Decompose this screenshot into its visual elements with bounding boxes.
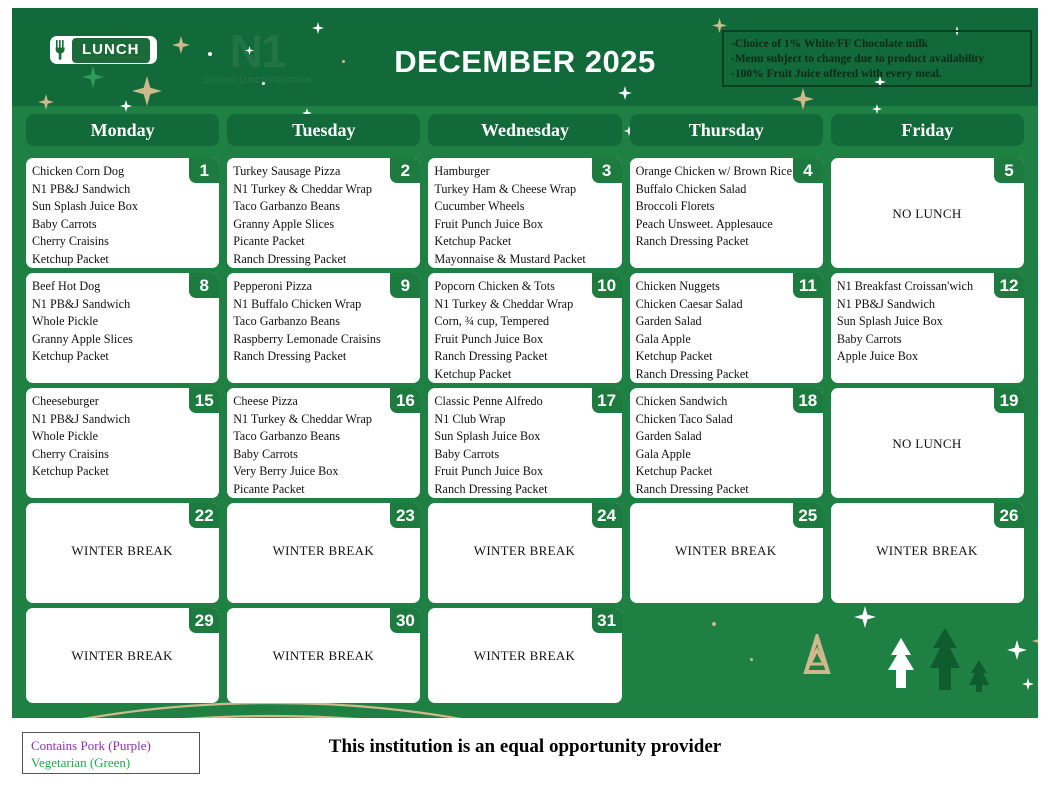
menu-item: Baby Carrots xyxy=(32,216,212,234)
menu-item-list: Classic Penne Alfredo N1 Club Wrap Sun S… xyxy=(434,393,614,498)
winter-break-note: WINTER BREAK xyxy=(233,613,413,699)
menu-item: Cherry Craisins xyxy=(32,446,212,464)
winter-break-note: WINTER BREAK xyxy=(837,508,1017,599)
day-number-badge: 19 xyxy=(994,388,1024,413)
menu-item: Broccoli Florets xyxy=(636,198,816,216)
menu-item: Ketchup Packet xyxy=(32,348,212,366)
poster-header: LUNCH N1 SCHOOL LUNCH PROGRAM DECEMBER 2… xyxy=(12,8,1038,106)
notice-line-3: -100% Fruit Juice offered with every mea… xyxy=(731,67,1023,82)
menu-item: Apple Juice Box xyxy=(837,348,1017,366)
equal-opportunity-statement: This institution is an equal opportunity… xyxy=(0,736,1050,758)
day-number-badge: 29 xyxy=(189,608,219,633)
day-number-badge: 22 xyxy=(189,503,219,528)
calendar-page: LUNCH N1 SCHOOL LUNCH PROGRAM DECEMBER 2… xyxy=(0,0,1050,808)
day-number-badge: 30 xyxy=(390,608,420,633)
calendar-week-row: 8 Beef Hot Dog N1 PB&J Sandwich Whole Pi… xyxy=(22,273,1028,383)
calendar-cell-24[interactable]: 24 WINTER BREAK xyxy=(428,503,621,603)
menu-item: N1 Club Wrap xyxy=(434,411,614,429)
day-number-badge: 23 xyxy=(390,503,420,528)
menu-item: Ranch Dressing Packet xyxy=(233,348,413,366)
menu-item: Ranch Dressing Packet xyxy=(434,481,614,498)
menu-item-list: Beef Hot Dog N1 PB&J Sandwich Whole Pick… xyxy=(32,278,212,366)
menu-item-list: Pepperoni Pizza N1 Buffalo Chicken Wrap … xyxy=(233,278,413,366)
day-number-badge: 3 xyxy=(592,158,622,183)
weekday-header-friday: Friday xyxy=(831,114,1024,146)
day-number-badge: 2 xyxy=(390,158,420,183)
weekday-header-thursday: Thursday xyxy=(630,114,823,146)
menu-item: Ketchup Packet xyxy=(32,251,212,268)
menu-item: Corn, ¾ cup, Tempered xyxy=(434,313,614,331)
day-number-badge: 17 xyxy=(592,388,622,413)
menu-item: Mayonnaise & Mustard Packet xyxy=(434,251,614,268)
menu-item: Cheese Pizza xyxy=(233,393,413,411)
menu-item: Peach Unsweet. Applesauce xyxy=(636,216,816,234)
menu-item: N1 Turkey & Cheddar Wrap xyxy=(233,181,413,199)
menu-item: Picante Packet xyxy=(233,233,413,251)
day-number-badge: 11 xyxy=(793,273,823,298)
menu-item: Chicken Corn Dog xyxy=(32,163,212,181)
no-lunch-note: NO LUNCH xyxy=(837,393,1017,494)
menu-item: Ketchup Packet xyxy=(636,463,816,481)
menu-item: Hamburger xyxy=(434,163,614,181)
menu-item: Chicken Sandwich xyxy=(636,393,816,411)
menu-item-list: Chicken Nuggets Chicken Caesar Salad Gar… xyxy=(636,278,816,383)
menu-item: Ketchup Packet xyxy=(434,233,614,251)
menu-item: Baby Carrots xyxy=(233,446,413,464)
calendar-cell-15[interactable]: 15 Cheeseburger N1 PB&J Sandwich Whole P… xyxy=(26,388,219,498)
calendar-cell-3[interactable]: 3 Hamburger Turkey Ham & Cheese Wrap Cuc… xyxy=(428,158,621,268)
menu-item: Raspberry Lemonade Craisins xyxy=(233,331,413,349)
winter-break-note: WINTER BREAK xyxy=(233,508,413,599)
winter-break-note: WINTER BREAK xyxy=(636,508,816,599)
menu-item: N1 Turkey & Cheddar Wrap xyxy=(434,296,614,314)
calendar-grid: 1 Chicken Corn Dog N1 PB&J Sandwich Sun … xyxy=(12,158,1038,708)
menu-item: Baby Carrots xyxy=(434,446,614,464)
menu-item: Fruit Punch Juice Box xyxy=(434,216,614,234)
menu-item: N1 PB&J Sandwich xyxy=(32,181,212,199)
day-number-badge: 15 xyxy=(189,388,219,413)
weekday-header-tuesday: Tuesday xyxy=(227,114,420,146)
calendar-cell-2[interactable]: 2 Turkey Sausage Pizza N1 Turkey & Chedd… xyxy=(227,158,420,268)
menu-item: N1 PB&J Sandwich xyxy=(837,296,1017,314)
menu-item: Whole Pickle xyxy=(32,428,212,446)
menu-item: Garden Salad xyxy=(636,428,816,446)
menu-poster: LUNCH N1 SCHOOL LUNCH PROGRAM DECEMBER 2… xyxy=(12,8,1038,718)
menu-item: Orange Chicken w/ Brown Rice xyxy=(636,163,816,181)
day-number-badge: 8 xyxy=(189,273,219,298)
weekday-header-wednesday: Wednesday xyxy=(428,114,621,146)
calendar-cell-26[interactable]: 26 WINTER BREAK xyxy=(831,503,1024,603)
calendar-cell-17[interactable]: 17 Classic Penne Alfredo N1 Club Wrap Su… xyxy=(428,388,621,498)
menu-item: Ranch Dressing Packet xyxy=(233,251,413,268)
menu-item-list: Turkey Sausage Pizza N1 Turkey & Cheddar… xyxy=(233,163,413,268)
menu-item: Ketchup Packet xyxy=(434,366,614,383)
weekday-header-monday: Monday xyxy=(26,114,219,146)
day-number-badge: 10 xyxy=(592,273,622,298)
menu-item: Cucumber Wheels xyxy=(434,198,614,216)
calendar-cell-16[interactable]: 16 Cheese Pizza N1 Turkey & Cheddar Wrap… xyxy=(227,388,420,498)
winter-break-note: WINTER BREAK xyxy=(434,613,614,699)
menu-item: N1 PB&J Sandwich xyxy=(32,296,212,314)
calendar-week-row: 15 Cheeseburger N1 PB&J Sandwich Whole P… xyxy=(22,388,1028,498)
menu-notice-box: -Choice of 1% White/FF Chocolate milk -M… xyxy=(722,30,1032,87)
menu-item: Ranch Dressing Packet xyxy=(434,348,614,366)
notice-line-1: -Choice of 1% White/FF Chocolate milk xyxy=(731,37,1023,52)
menu-item: Granny Apple Slices xyxy=(32,331,212,349)
menu-item: Ketchup Packet xyxy=(636,348,816,366)
calendar-cell-19[interactable]: 19 NO LUNCH xyxy=(831,388,1024,498)
notice-line-2: -Menu subject to change due to product a… xyxy=(731,52,1023,67)
menu-item: Ranch Dressing Packet xyxy=(636,481,816,498)
menu-item: Chicken Taco Salad xyxy=(636,411,816,429)
menu-item: Ranch Dressing Packet xyxy=(636,233,816,251)
menu-item: Turkey Sausage Pizza xyxy=(233,163,413,181)
winter-break-note: WINTER BREAK xyxy=(32,508,212,599)
menu-item: Popcorn Chicken & Tots xyxy=(434,278,614,296)
calendar-cell-9[interactable]: 9 Pepperoni Pizza N1 Buffalo Chicken Wra… xyxy=(227,273,420,383)
day-number-badge: 9 xyxy=(390,273,420,298)
menu-item: Gala Apple xyxy=(636,446,816,464)
calendar-cell-4[interactable]: 4 Orange Chicken w/ Brown Rice Buffalo C… xyxy=(630,158,823,268)
calendar-cell-22[interactable]: 22 WINTER BREAK xyxy=(26,503,219,603)
calendar-cell-empty xyxy=(630,608,823,703)
calendar-week-row: 29 WINTER BREAK 30 WINTER BREAK 31 WINTE… xyxy=(22,608,1028,703)
menu-item: Very Berry Juice Box xyxy=(233,463,413,481)
menu-item: Fruit Punch Juice Box xyxy=(434,463,614,481)
menu-item: Whole Pickle xyxy=(32,313,212,331)
menu-item-list: Chicken Sandwich Chicken Taco Salad Gard… xyxy=(636,393,816,498)
menu-item: Ranch Dressing Packet xyxy=(636,366,816,383)
menu-item: N1 Breakfast Croissan'wich xyxy=(837,278,1017,296)
weekday-header-row: Monday Tuesday Wednesday Thursday Friday xyxy=(12,114,1038,146)
winter-break-note: WINTER BREAK xyxy=(434,508,614,599)
menu-item: Chicken Caesar Salad xyxy=(636,296,816,314)
menu-item: Taco Garbanzo Beans xyxy=(233,313,413,331)
menu-item: Gala Apple xyxy=(636,331,816,349)
menu-item: Cheeseburger xyxy=(32,393,212,411)
menu-item-list: Cheeseburger N1 PB&J Sandwich Whole Pick… xyxy=(32,393,212,481)
calendar-cell-18[interactable]: 18 Chicken Sandwich Chicken Taco Salad G… xyxy=(630,388,823,498)
menu-item: Turkey Ham & Cheese Wrap xyxy=(434,181,614,199)
day-number-badge: 26 xyxy=(994,503,1024,528)
menu-item: Ketchup Packet xyxy=(32,463,212,481)
day-number-badge: 1 xyxy=(189,158,219,183)
menu-item: Sun Splash Juice Box xyxy=(434,428,614,446)
calendar-cell-12[interactable]: 12 N1 Breakfast Croissan'wich N1 PB&J Sa… xyxy=(831,273,1024,383)
calendar-cell-30[interactable]: 30 WINTER BREAK xyxy=(227,608,420,703)
calendar-cell-23[interactable]: 23 WINTER BREAK xyxy=(227,503,420,603)
menu-item: N1 Buffalo Chicken Wrap xyxy=(233,296,413,314)
menu-item: Sun Splash Juice Box xyxy=(32,198,212,216)
calendar-cell-8[interactable]: 8 Beef Hot Dog N1 PB&J Sandwich Whole Pi… xyxy=(26,273,219,383)
day-number-badge: 25 xyxy=(793,503,823,528)
calendar-cell-11[interactable]: 11 Chicken Nuggets Chicken Caesar Salad … xyxy=(630,273,823,383)
calendar-week-row: 22 WINTER BREAK 23 WINTER BREAK 24 WINTE… xyxy=(22,503,1028,603)
winter-break-note: WINTER BREAK xyxy=(32,613,212,699)
menu-item: N1 Turkey & Cheddar Wrap xyxy=(233,411,413,429)
day-number-badge: 24 xyxy=(592,503,622,528)
menu-item: Taco Garbanzo Beans xyxy=(233,428,413,446)
calendar-cell-10[interactable]: 10 Popcorn Chicken & Tots N1 Turkey & Ch… xyxy=(428,273,621,383)
menu-item: Buffalo Chicken Salad xyxy=(636,181,816,199)
day-number-badge: 4 xyxy=(793,158,823,183)
menu-item-list: Popcorn Chicken & Tots N1 Turkey & Chedd… xyxy=(434,278,614,383)
calendar-cell-5[interactable]: 5 NO LUNCH xyxy=(831,158,1024,268)
menu-item: Beef Hot Dog xyxy=(32,278,212,296)
menu-item-list: Cheese Pizza N1 Turkey & Cheddar Wrap Ta… xyxy=(233,393,413,498)
day-number-badge: 18 xyxy=(793,388,823,413)
calendar-cell-25[interactable]: 25 WINTER BREAK xyxy=(630,503,823,603)
day-number-badge: 16 xyxy=(390,388,420,413)
menu-item: Chicken Nuggets xyxy=(636,278,816,296)
menu-item: Baby Carrots xyxy=(837,331,1017,349)
day-number-badge: 5 xyxy=(994,158,1024,183)
calendar-cell-1[interactable]: 1 Chicken Corn Dog N1 PB&J Sandwich Sun … xyxy=(26,158,219,268)
menu-item-list: Orange Chicken w/ Brown Rice Buffalo Chi… xyxy=(636,163,816,251)
day-number-badge: 12 xyxy=(994,273,1024,298)
calendar-cell-empty xyxy=(831,608,1024,703)
menu-item: Pepperoni Pizza xyxy=(233,278,413,296)
day-number-badge: 31 xyxy=(592,608,622,633)
calendar-cell-29[interactable]: 29 WINTER BREAK xyxy=(26,608,219,703)
menu-item-list: Chicken Corn Dog N1 PB&J Sandwich Sun Sp… xyxy=(32,163,212,268)
menu-item: Taco Garbanzo Beans xyxy=(233,198,413,216)
menu-item: Picante Packet xyxy=(233,481,413,498)
menu-item: Granny Apple Slices xyxy=(233,216,413,234)
menu-item: Fruit Punch Juice Box xyxy=(434,331,614,349)
menu-item: Garden Salad xyxy=(636,313,816,331)
calendar-week-row: 1 Chicken Corn Dog N1 PB&J Sandwich Sun … xyxy=(22,158,1028,268)
menu-item-list: N1 Breakfast Croissan'wich N1 PB&J Sandw… xyxy=(837,278,1017,366)
menu-item: Cherry Craisins xyxy=(32,233,212,251)
menu-item: Classic Penne Alfredo xyxy=(434,393,614,411)
menu-item-list: Hamburger Turkey Ham & Cheese Wrap Cucum… xyxy=(434,163,614,268)
menu-item: N1 PB&J Sandwich xyxy=(32,411,212,429)
calendar-cell-31[interactable]: 31 WINTER BREAK xyxy=(428,608,621,703)
no-lunch-note: NO LUNCH xyxy=(837,163,1017,264)
menu-item: Sun Splash Juice Box xyxy=(837,313,1017,331)
